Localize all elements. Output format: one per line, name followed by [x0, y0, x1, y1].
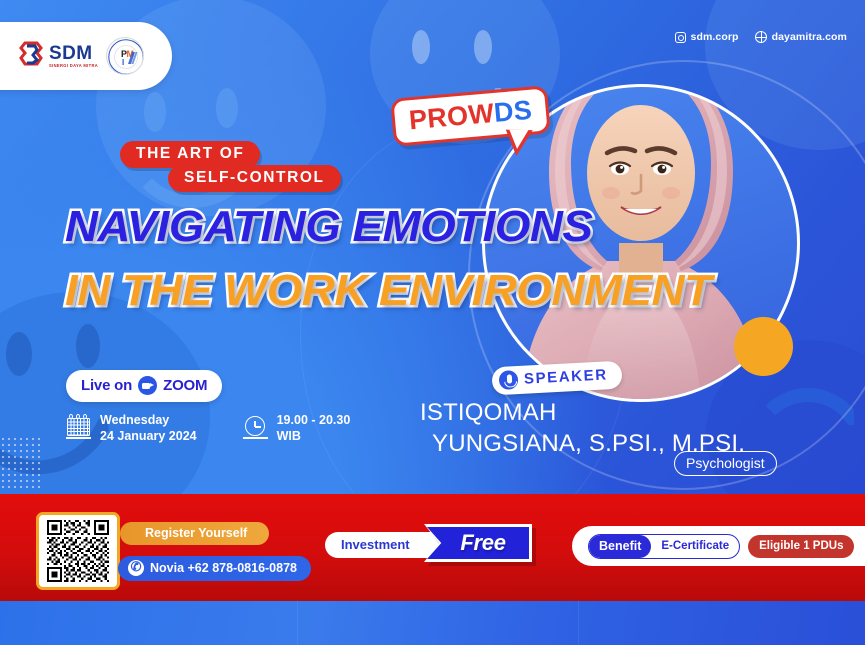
- prowds-text-part2: DS: [493, 95, 534, 128]
- globe-icon: [755, 31, 767, 43]
- investment-value: Free: [450, 530, 505, 556]
- register-button[interactable]: Register Yourself: [120, 522, 269, 545]
- prowds-text-part1: PROW: [408, 98, 495, 135]
- benefit-section: Benefit E-Certificate Eligible 1 PDUs: [572, 526, 865, 566]
- page-title: NAVIGATING EMOTIONS IN THE WORK ENVIRONM…: [65, 206, 625, 312]
- schedule-info: Wednesday 24 January 2024 19.00 - 20.30 …: [66, 412, 350, 444]
- decorative-orange-dot: [734, 317, 793, 376]
- sdm-logo-text: SDM: [49, 44, 98, 63]
- zoom-label: ZOOM: [163, 377, 207, 394]
- whatsapp-contact-button[interactable]: Novia +62 878-0816-0878: [118, 556, 311, 581]
- schedule-time-range: 19.00 - 20.30: [277, 413, 351, 427]
- headline-line-2: IN THE WORK ENVIRONMENT: [65, 270, 647, 312]
- pmi-logo-icon: P M I: [106, 37, 144, 75]
- benefit-label: Benefit: [589, 535, 651, 558]
- kicker-line-2: SELF-CONTROL: [168, 165, 341, 192]
- registration-qr-code[interactable]: [36, 512, 120, 590]
- time-item: 19.00 - 20.30 WIB: [243, 412, 351, 444]
- contact-label: Novia +62 878-0816-0878: [150, 561, 297, 575]
- qr-code-image: [44, 520, 112, 582]
- benefit-pill: Benefit E-Certificate: [588, 534, 740, 559]
- instagram-icon: [675, 32, 686, 43]
- calendar-icon: [66, 414, 91, 440]
- speaker-label: SPEAKER: [524, 366, 608, 387]
- date-item: Wednesday 24 January 2024: [66, 412, 197, 444]
- webinar-poster: SDM SINERGI DAYA MITRA P M I sdm.corp da…: [0, 0, 865, 645]
- schedule-day: Wednesday: [100, 413, 169, 427]
- instagram-link[interactable]: sdm.corp: [675, 31, 739, 43]
- speaker-name-line-1: ISTIQOMAH: [420, 399, 556, 426]
- pdu-badge: Eligible 1 PDUs: [748, 535, 854, 558]
- svg-text:I: I: [122, 58, 124, 67]
- smiley-eye-left: [144, 92, 166, 132]
- brand-logo-plate: SDM SINERGI DAYA MITRA P M I: [0, 22, 172, 90]
- video-camera-icon: [138, 376, 157, 395]
- smiley-eye-right: [216, 88, 238, 128]
- headline-line-1: NAVIGATING EMOTIONS: [65, 206, 647, 248]
- instagram-handle: sdm.corp: [691, 31, 739, 43]
- smiley-eye-left: [412, 30, 430, 64]
- investment-value-ribbon: Free: [424, 524, 536, 566]
- sdm-logo-icon: [18, 41, 44, 71]
- whatsapp-icon: [128, 560, 144, 576]
- kicker-line-1: THE ART OF: [120, 141, 260, 168]
- schedule-timezone: WIB: [277, 429, 301, 443]
- bottom-strip: [0, 601, 865, 645]
- schedule-date: 24 January 2024: [100, 429, 197, 443]
- decorative-dot-grid: [0, 436, 42, 488]
- smiley-eye-left: [6, 332, 32, 376]
- live-on-label: Live on: [81, 377, 132, 394]
- website-url: dayamitra.com: [772, 31, 847, 43]
- clock-icon: [243, 414, 268, 440]
- website-link[interactable]: dayamitra.com: [755, 31, 847, 43]
- microphone-icon: [498, 369, 520, 391]
- smiley-eye-right: [76, 324, 100, 368]
- platform-badge: Live on ZOOM: [66, 370, 222, 402]
- benefit-value: E-Certificate: [651, 540, 739, 552]
- speaker-title-badge: Psychologist: [674, 451, 777, 476]
- social-links: sdm.corp dayamitra.com: [675, 31, 847, 43]
- sdm-logo-tagline: SINERGI DAYA MITRA: [49, 64, 98, 68]
- sdm-logo: SDM SINERGI DAYA MITRA: [18, 41, 98, 71]
